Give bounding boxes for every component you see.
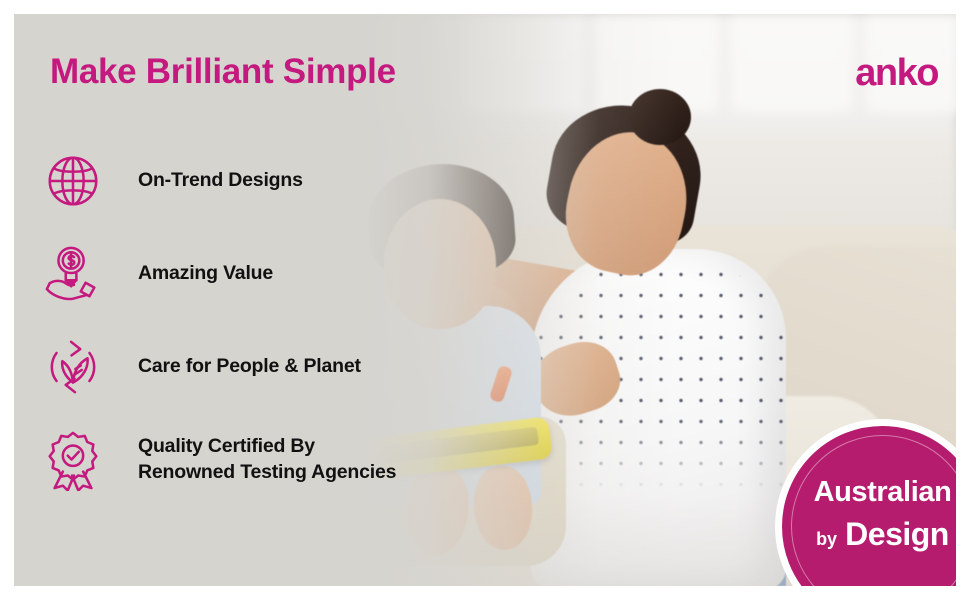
- recycle-leaf-icon: [42, 336, 104, 398]
- globe-icon: [42, 150, 104, 212]
- page-title: Make Brilliant Simple: [50, 52, 396, 92]
- feature-list: On-Trend Designs Amazing Value: [42, 150, 472, 491]
- anko-logo: anko: [855, 52, 938, 95]
- feature-label: On-Trend Designs: [138, 168, 303, 194]
- feature-item-amazing-value: Amazing Value: [42, 243, 472, 305]
- hand-coin-icon: [42, 243, 104, 305]
- badge-text: Australian by Design: [782, 478, 956, 550]
- badge-line-2: by Design: [782, 518, 956, 550]
- feature-item-quality-certified: Quality Certified By Renowned Testing Ag…: [42, 429, 472, 491]
- certified-ribbon-icon: [42, 429, 104, 491]
- feature-label: Care for People & Planet: [138, 354, 361, 380]
- promo-banner: Make Brilliant Simple anko On-Trend Desi…: [14, 14, 956, 586]
- feature-label: Amazing Value: [138, 261, 273, 287]
- feature-item-care-for-people-planet: Care for People & Planet: [42, 336, 472, 398]
- badge-connector: by: [816, 529, 837, 549]
- feature-item-on-trend-designs: On-Trend Designs: [42, 150, 472, 212]
- feature-label: Quality Certified By Renowned Testing Ag…: [138, 434, 396, 485]
- badge-design-word: Design: [845, 516, 949, 552]
- badge-line-1: Australian: [782, 478, 956, 507]
- woman-hair-bun: [629, 89, 691, 145]
